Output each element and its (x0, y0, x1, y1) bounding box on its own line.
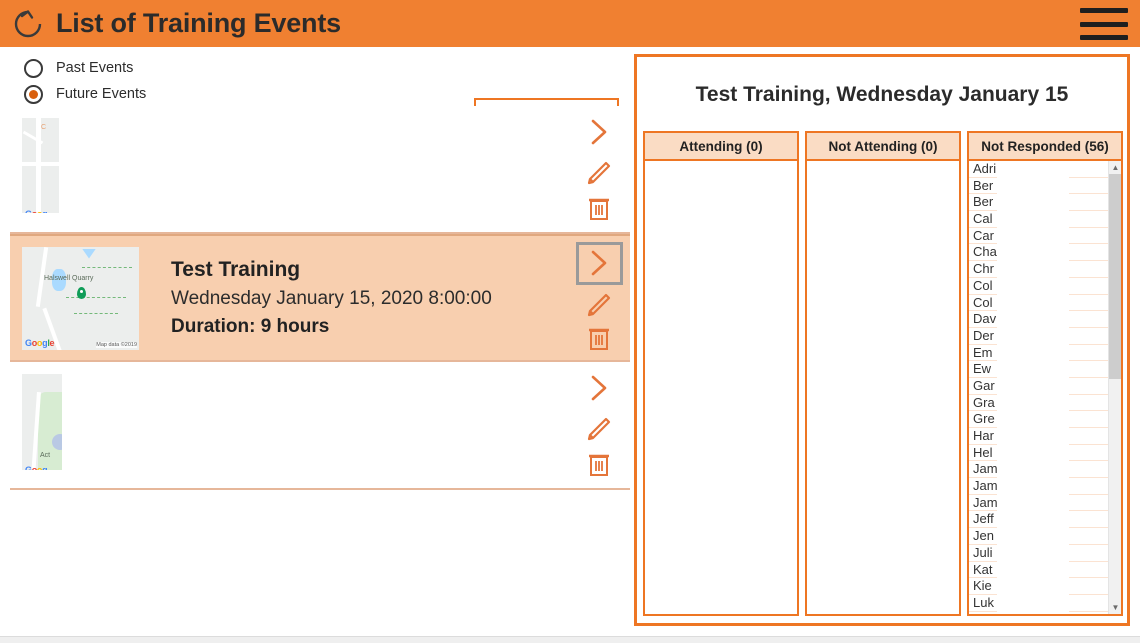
hamburger-bar (1080, 22, 1128, 27)
training-events-app: List of Training Events Past Events Futu… (0, 0, 1140, 643)
filter-future-events[interactable]: Future Events (24, 81, 146, 107)
list-item[interactable]: Em (969, 345, 1108, 362)
list-item[interactable]: Jam (969, 478, 1108, 495)
list-item[interactable]: Gar on (969, 378, 1108, 395)
names-scrollbar[interactable]: ▲ ▼ (1108, 161, 1121, 614)
column-header-attending: Attending (0) (643, 131, 799, 161)
chevron-down-icon[interactable]: ▼ (1109, 601, 1122, 614)
list-item[interactable]: Luk (969, 595, 1108, 612)
edit-event-button[interactable] (577, 151, 621, 189)
list-item[interactable]: Cal (969, 211, 1108, 228)
trash-delete-icon (586, 194, 612, 222)
map-road (22, 162, 62, 166)
map-thumbnail: C Goog (22, 118, 139, 221)
window-bottom-strip (0, 636, 1140, 643)
list-item[interactable]: C Goog (10, 106, 630, 234)
list-item[interactable]: Act Goog (10, 362, 630, 490)
list-item[interactable]: Hel (969, 445, 1108, 462)
event-filter-group: Past Events Future Events (24, 55, 146, 107)
map-place-label: C (41, 124, 46, 131)
chevron-right-icon (588, 373, 610, 403)
edit-event-button[interactable] (577, 407, 621, 445)
event-name: Test Training (171, 258, 568, 282)
view-event-button[interactable] (577, 369, 621, 407)
chevron-right-icon (588, 248, 610, 278)
list-item[interactable]: Kie (969, 578, 1108, 595)
list-item[interactable]: Kat (969, 562, 1108, 579)
list-item[interactable]: Gre p) (969, 411, 1108, 428)
filter-past-events[interactable]: Past Events (24, 55, 146, 81)
chevron-right-icon (588, 117, 610, 147)
edit-event-button[interactable] (577, 285, 621, 321)
list-item[interactable]: Dav od (969, 311, 1108, 328)
list-item[interactable]: Col (969, 278, 1108, 295)
list-item[interactable]: Cha en (969, 244, 1108, 261)
not-responded-name-list[interactable]: AdriBer (p)BerCalCar orpCha enChrColColD… (969, 161, 1108, 614)
map-place-label: Act (40, 452, 50, 459)
map-place-label: Halswell Quarry (44, 275, 93, 282)
column-not-responded: Not Responded (56) AdriBer (p)BerCalCar … (967, 131, 1123, 616)
page-title: List of Training Events (56, 8, 341, 39)
hamburger-menu-icon[interactable] (1080, 8, 1128, 40)
hamburger-bar (1080, 8, 1128, 13)
list-item[interactable]: Jam (969, 495, 1108, 512)
redaction-mask (59, 118, 139, 221)
column-attending: Attending (0) (643, 131, 799, 616)
list-item-selected[interactable]: Halswell Quarry Google Map data ©2019 Te… (10, 234, 630, 362)
event-info (171, 166, 568, 172)
filter-future-events-label: Future Events (56, 86, 146, 102)
pencil-edit-icon (584, 155, 614, 185)
list-item[interactable]: Jeff (969, 511, 1108, 528)
list-item[interactable]: Adri (969, 161, 1108, 178)
list-item[interactable]: Chr (969, 261, 1108, 278)
list-item[interactable]: Ber (969, 194, 1108, 211)
list-item[interactable]: Har son (p) (969, 428, 1108, 445)
map-trail (66, 297, 126, 298)
row-actions (568, 363, 630, 487)
trash-delete-icon (586, 324, 612, 352)
event-info: Test Training Wednesday January 15, 2020… (171, 258, 568, 338)
event-info (171, 422, 568, 428)
map-thumbnail: Halswell Quarry Google Map data ©2019 (22, 247, 139, 350)
list-item[interactable]: Jam o) (969, 461, 1108, 478)
event-duration: Duration: 9 hours (171, 316, 568, 338)
row-actions (568, 236, 630, 360)
column-not-attending: Not Attending (0) (805, 131, 961, 616)
google-watermark: Google (25, 338, 54, 348)
list-item[interactable]: Lyndon Slater (p) (969, 612, 1108, 614)
scrollbar-thumb[interactable] (1109, 174, 1122, 379)
map-pin-icon (77, 287, 86, 299)
delete-event-button[interactable] (577, 189, 621, 227)
column-body-not-attending[interactable] (805, 161, 961, 616)
list-item[interactable]: Gra o) (969, 395, 1108, 412)
column-header-not-responded: Not Responded (56) (967, 131, 1123, 161)
list-item[interactable]: Jen (969, 528, 1108, 545)
trash-delete-icon (586, 450, 612, 478)
redaction-mask (62, 374, 139, 477)
map-thumbnail: Act Goog (22, 374, 139, 477)
list-item[interactable]: Col (969, 295, 1108, 312)
column-header-not-attending: Not Attending (0) (805, 131, 961, 161)
view-event-button[interactable] (577, 113, 621, 151)
view-event-button[interactable] (576, 242, 623, 285)
filter-past-events-label: Past Events (56, 60, 133, 76)
radio-future-events[interactable] (24, 85, 43, 104)
detail-title: Test Training, Wednesday January 15 (637, 57, 1127, 107)
map-attribution: Map data ©2019 (96, 342, 137, 348)
map-trail (74, 313, 118, 314)
pencil-edit-icon (584, 287, 614, 317)
attendance-columns: Attending (0) Not Attending (0) Not Resp… (643, 131, 1125, 616)
column-body-not-responded[interactable]: AdriBer (p)BerCalCar orpCha enChrColColD… (967, 161, 1123, 616)
list-item[interactable]: Car orp (969, 228, 1108, 245)
list-item[interactable]: Juli (969, 545, 1108, 562)
radio-past-events[interactable] (24, 59, 43, 78)
event-detail-pane: Test Training, Wednesday January 15 Atte… (634, 54, 1130, 626)
events-pane: Past Events Future Events Add New Traini… (0, 47, 632, 643)
app-header: List of Training Events (0, 0, 1140, 47)
hamburger-bar (1080, 35, 1128, 40)
list-item[interactable]: Ew (969, 361, 1108, 378)
refresh-icon[interactable] (0, 0, 56, 47)
redaction-mask (22, 470, 139, 477)
row-actions (568, 107, 630, 231)
map-trail (82, 267, 132, 268)
map-road (36, 118, 41, 221)
delete-event-button[interactable] (577, 320, 621, 356)
delete-event-button[interactable] (577, 445, 621, 483)
event-date: Wednesday January 15, 2020 8:00:00 (171, 288, 568, 310)
column-body-attending[interactable] (643, 161, 799, 616)
pencil-edit-icon (584, 411, 614, 441)
list-item[interactable]: Ber (p) (969, 178, 1108, 195)
events-list[interactable]: C Goog (10, 106, 630, 536)
chevron-up-icon[interactable]: ▲ (1109, 161, 1122, 174)
list-item[interactable]: Der o) (969, 328, 1108, 345)
redaction-mask (22, 213, 139, 221)
